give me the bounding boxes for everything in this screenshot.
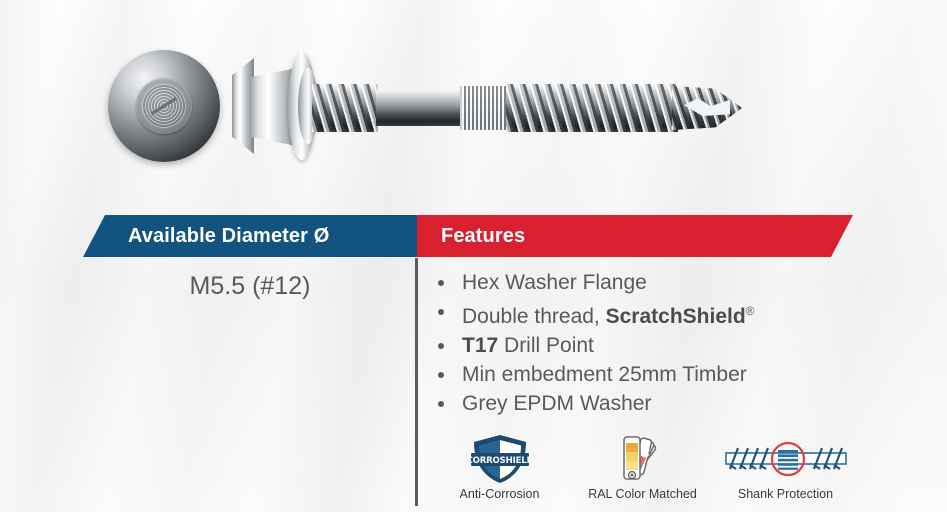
feature-text: Min embedment 25mm Timber xyxy=(462,363,747,386)
diameter-header-label: Available Diameter Ø xyxy=(128,225,329,248)
feature-item: Double thread, ScratchShield® xyxy=(428,297,858,331)
badge-label-ral-color-matched: RAL Color Matched xyxy=(588,487,697,501)
feature-emphasis: T17 xyxy=(462,334,498,357)
badge-anti-corrosion: CORROSHIELD Anti-Corrosion xyxy=(428,432,571,501)
feature-emphasis: ScratchShield xyxy=(606,305,746,328)
feature-text-suffix: Drill Point xyxy=(498,334,594,357)
ral-color-fan-icon xyxy=(613,432,673,485)
shank-protection-icon xyxy=(722,432,850,485)
feature-item: Min embedment 25mm Timber xyxy=(428,360,858,389)
corroshield-shield-icon: CORROSHIELD xyxy=(469,432,531,485)
epdm-washer-boss xyxy=(136,78,192,134)
badge-label-shank-protection: Shank Protection xyxy=(738,487,833,501)
badge-shank-protection: Shank Protection xyxy=(714,432,857,501)
feature-item: Hex Washer Flange xyxy=(428,268,858,297)
features-header-banner: Features xyxy=(417,215,853,257)
feature-text: Grey EPDM Washer xyxy=(462,392,651,415)
features-ul: Hex Washer FlangeDouble thread, ScratchS… xyxy=(428,268,858,418)
screw-head-top-view xyxy=(108,50,220,162)
registered-mark: ® xyxy=(746,304,755,318)
thread-section-lower xyxy=(506,84,678,132)
badge-row: CORROSHIELD Anti-Corrosion xyxy=(428,432,858,501)
thread-section-upper xyxy=(312,84,378,132)
feature-text: Double thread, xyxy=(462,305,606,328)
feature-item: T17 Drill Point xyxy=(428,331,858,360)
product-image xyxy=(0,0,947,205)
smooth-shank xyxy=(376,90,462,126)
corroshield-wordmark: CORROSHIELD xyxy=(469,456,531,466)
badge-label-anti-corrosion: Anti-Corrosion xyxy=(460,487,540,501)
badge-ral-color-matched: RAL Color Matched xyxy=(571,432,714,501)
feature-item: Grey EPDM Washer xyxy=(428,389,858,418)
features-header-label: Features xyxy=(441,225,525,248)
feature-text: Hex Washer Flange xyxy=(462,271,647,294)
diameter-value: M5.5 (#12) xyxy=(83,272,417,301)
knurled-shank-section xyxy=(460,86,512,130)
features-list: Hex Washer FlangeDouble thread, ScratchS… xyxy=(428,268,858,418)
section-headers: Available Diameter Ø Features xyxy=(0,215,947,257)
diameter-header-banner: Available Diameter Ø xyxy=(83,215,417,257)
